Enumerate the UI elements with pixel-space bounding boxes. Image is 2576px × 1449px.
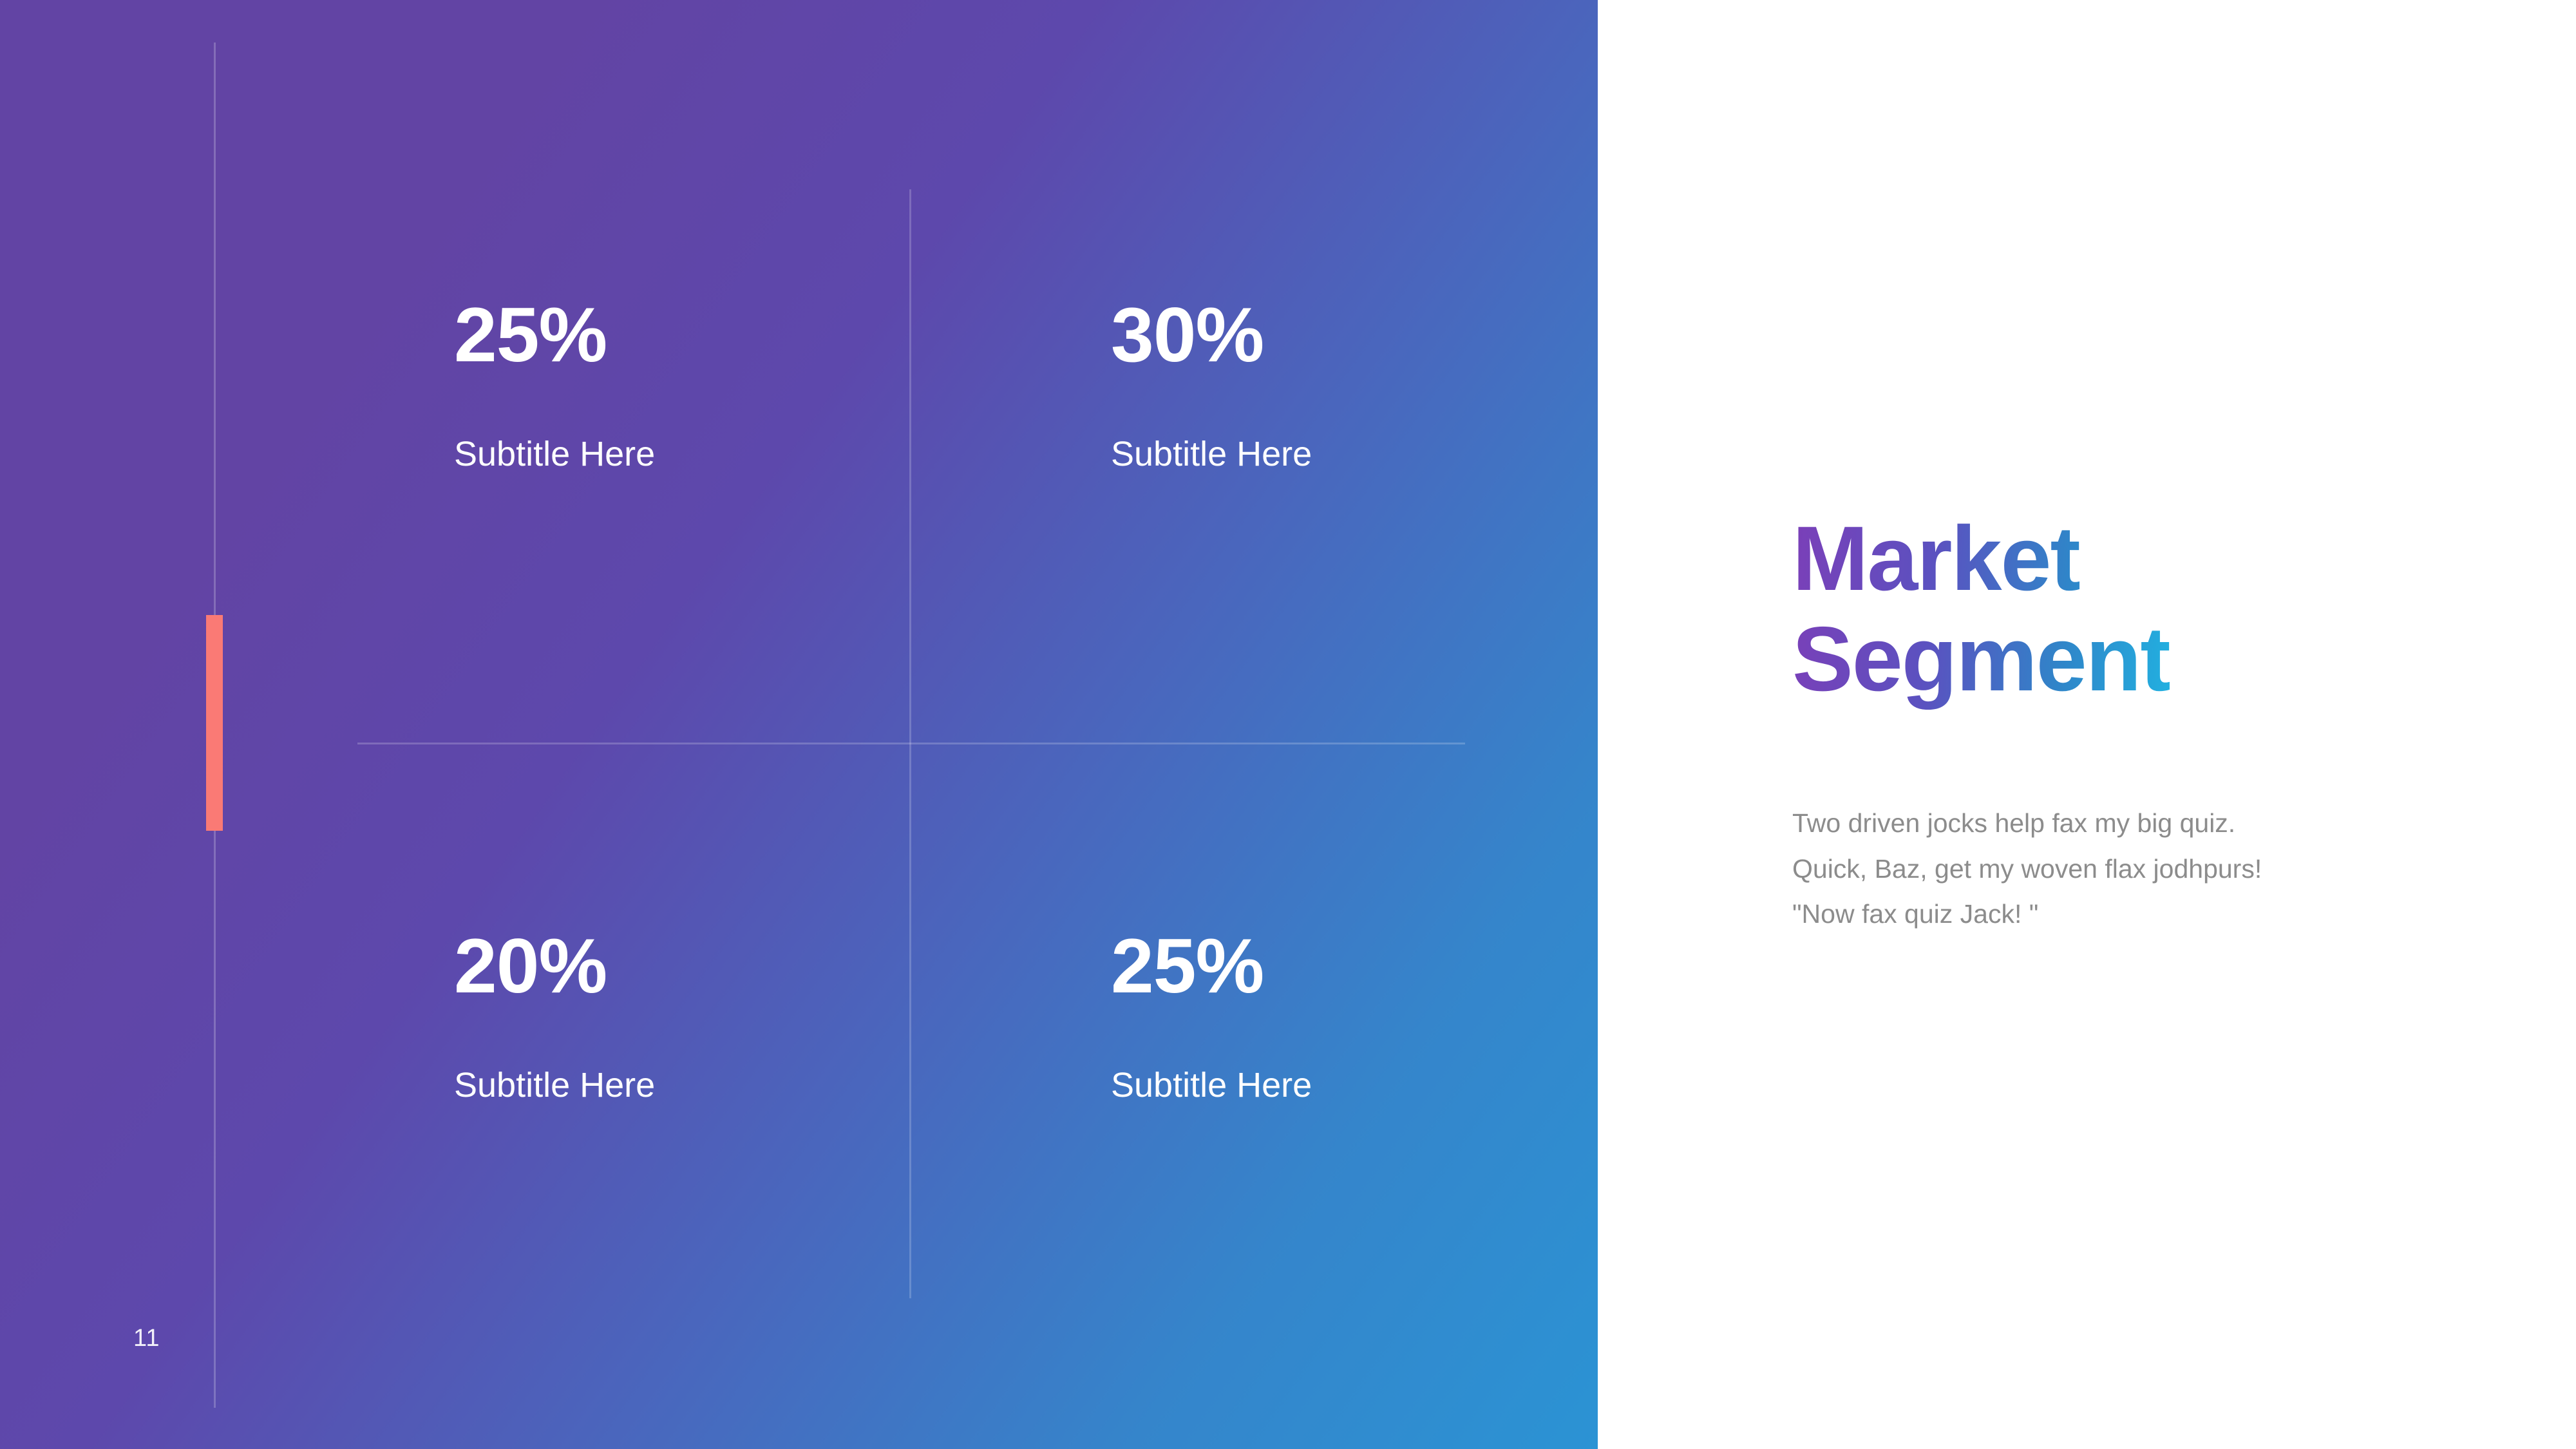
stat-value: 25%: [454, 296, 918, 374]
stat-value: 30%: [1111, 296, 1575, 374]
stat-cell: 30% Subtitle Here: [1111, 296, 1575, 471]
stat-label: Subtitle Here: [1111, 1068, 1575, 1103]
page-number: 11: [133, 1326, 160, 1350]
stat-cell: 25% Subtitle Here: [454, 296, 918, 471]
gradient-panel: 25% Subtitle Here 30% Subtitle Here 20% …: [0, 0, 1598, 1449]
page-title: Market Segment: [1792, 509, 2170, 710]
body-paragraph: Two driven jocks help fax my big quiz. Q…: [1792, 800, 2436, 937]
right-text-column: Market Segment Two driven jocks help fax…: [1792, 0, 2501, 1449]
stat-value: 20%: [454, 927, 918, 1005]
stat-label: Subtitle Here: [454, 1068, 918, 1103]
stat-cell: 25% Subtitle Here: [1111, 927, 1575, 1103]
stat-label: Subtitle Here: [454, 437, 918, 471]
stat-cell: 20% Subtitle Here: [454, 927, 918, 1103]
slide: 25% Subtitle Here 30% Subtitle Here 20% …: [0, 0, 2576, 1449]
stat-label: Subtitle Here: [1111, 437, 1575, 471]
stats-grid: 25% Subtitle Here 30% Subtitle Here 20% …: [0, 0, 1598, 1449]
stat-value: 25%: [1111, 927, 1575, 1005]
